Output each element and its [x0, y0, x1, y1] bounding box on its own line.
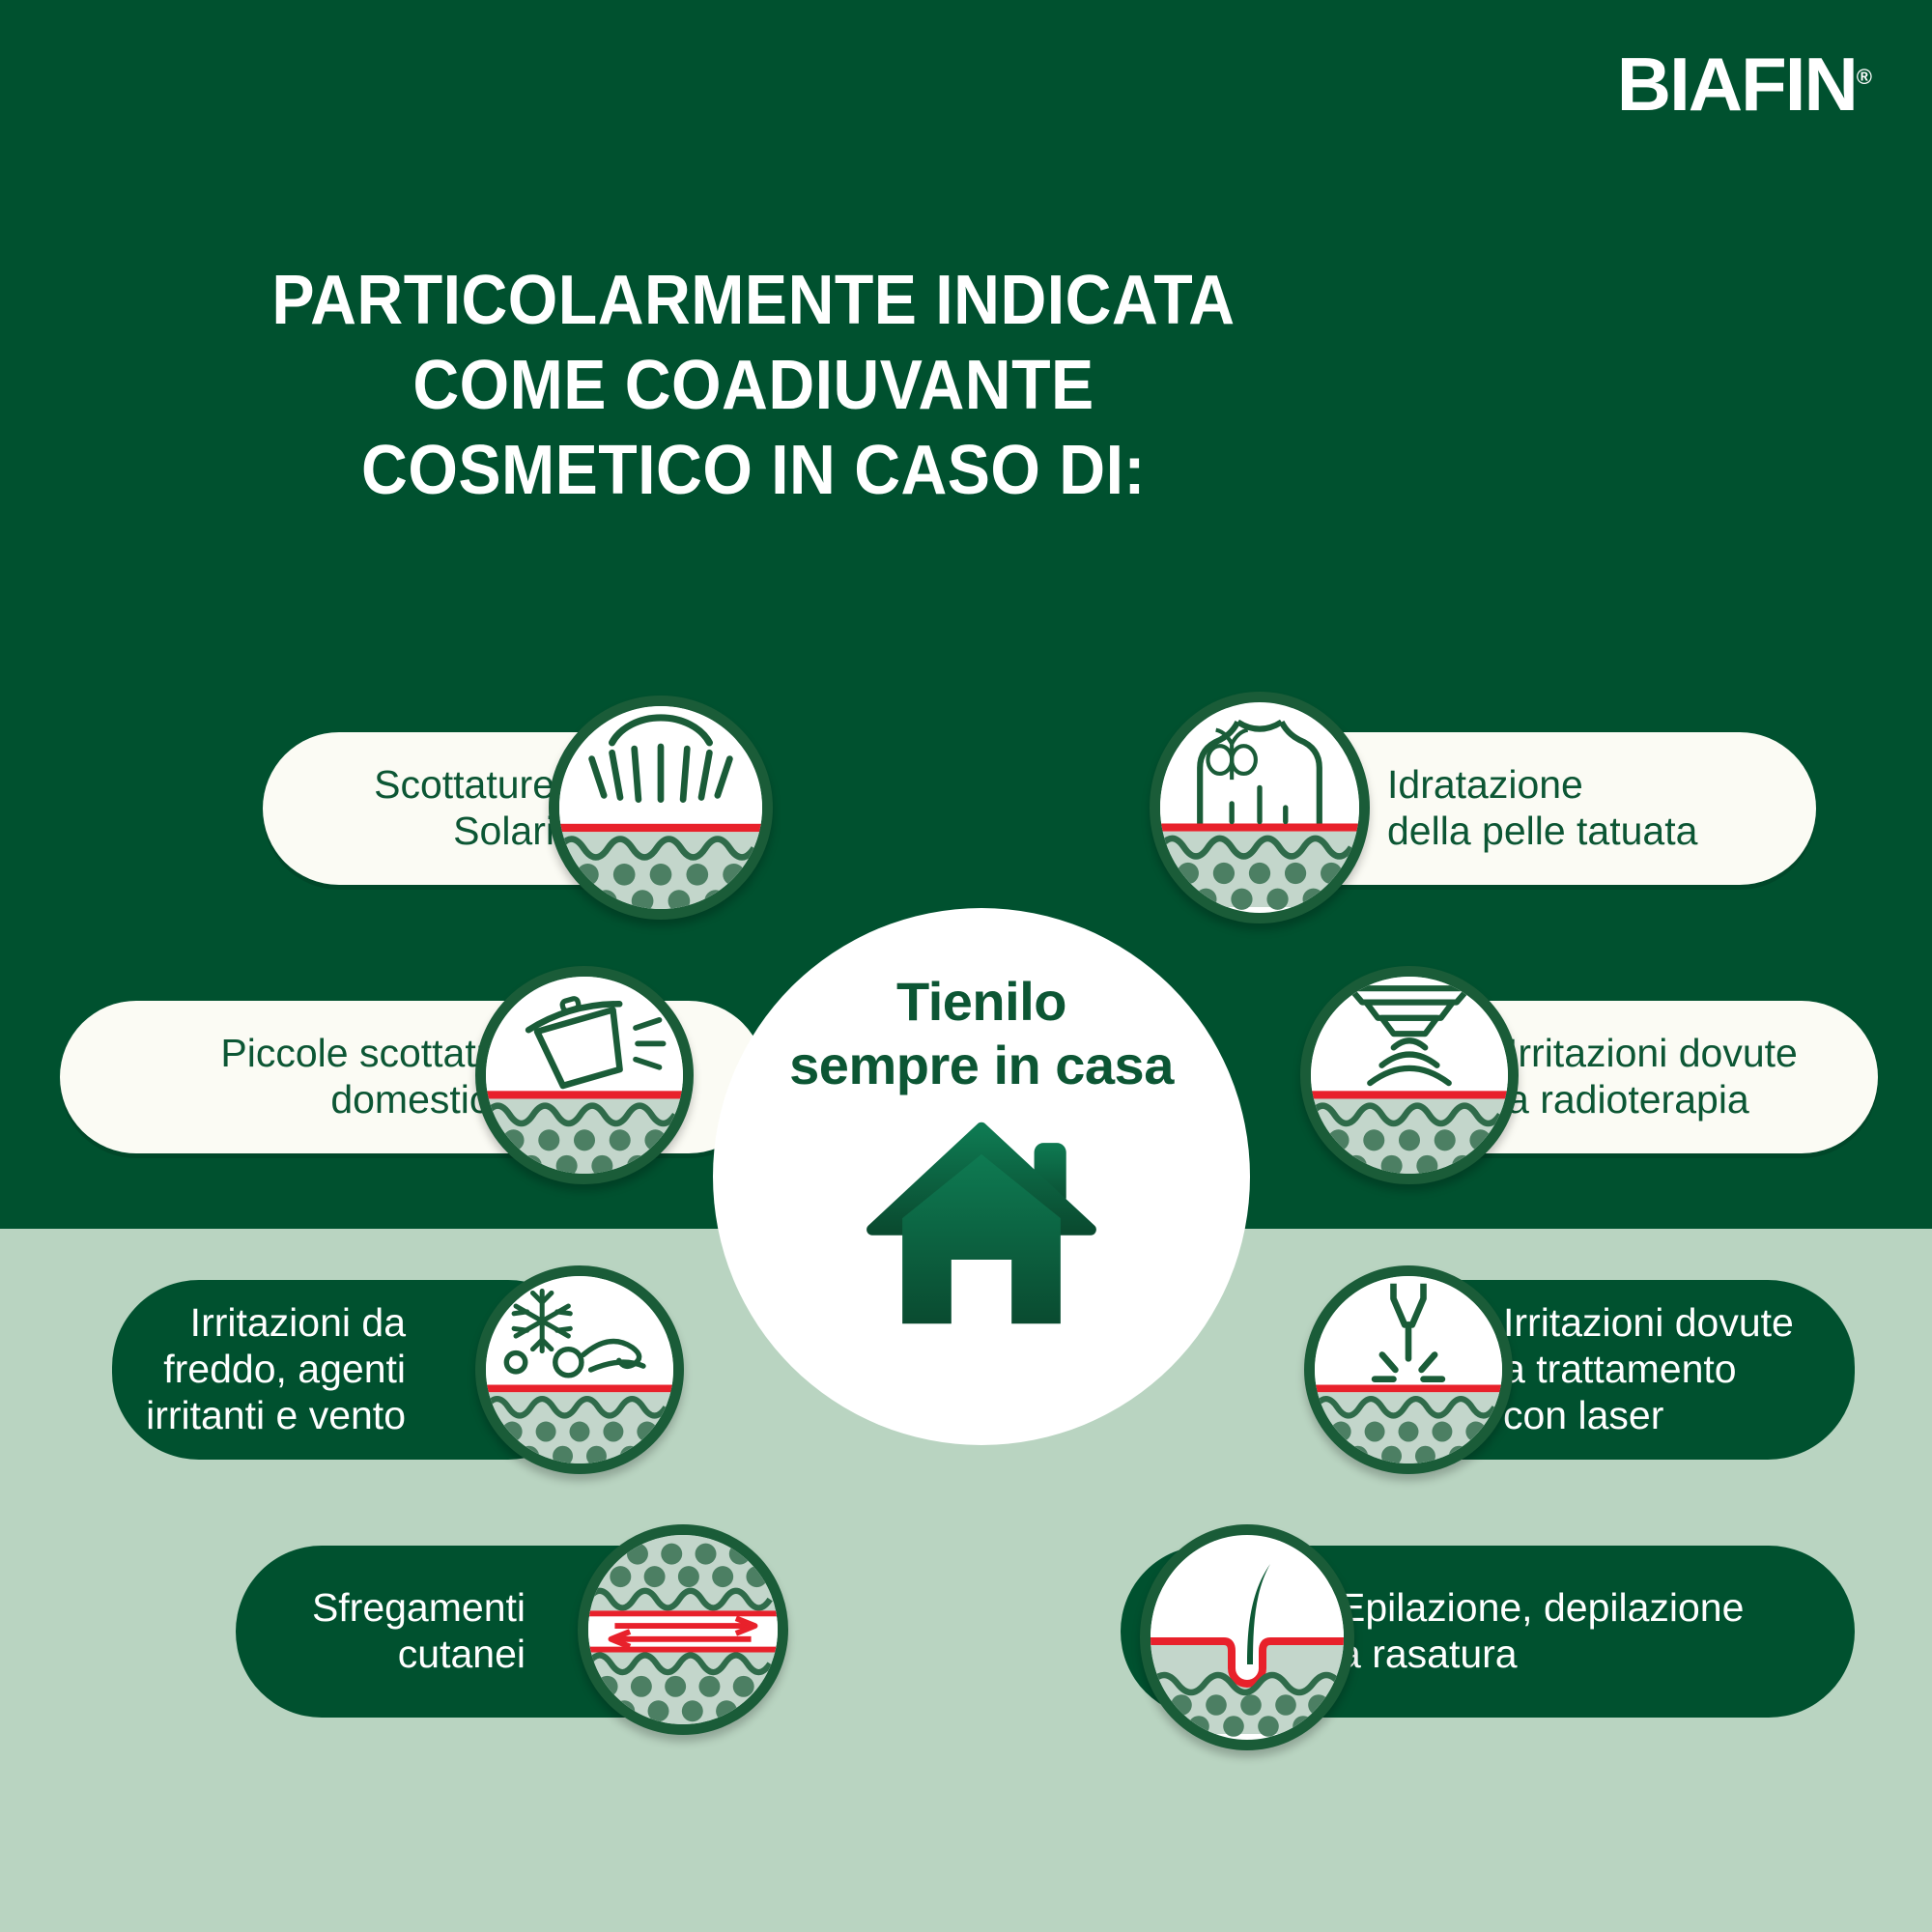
- brand-name: BIAFIN: [1617, 42, 1857, 127]
- page-title: PARTICOLARMENTE INDICATA COME COADIUVANT…: [60, 259, 1446, 513]
- list-item-label: Irritazioni dovute a radioterapia: [1507, 1031, 1798, 1123]
- headline-line-2: COME COADIUVANTE: [60, 344, 1446, 429]
- list-item-label: Scottature Solari: [374, 762, 554, 855]
- center-callout-text: Tienilo sempre in casa: [789, 970, 1174, 1097]
- brand-logo: BIAFIN®: [1617, 46, 1872, 122]
- laser-icon: [1304, 1265, 1513, 1474]
- friction-arrows-icon: [578, 1524, 788, 1735]
- center-callout: Tienilo sempre in casa: [713, 908, 1250, 1445]
- list-item-label: Epilazione, depilazione a rasatura: [1339, 1585, 1744, 1678]
- headline-line-1: PARTICOLARMENTE INDICATA: [60, 259, 1446, 344]
- infographic-poster: BIAFIN® PARTICOLARMENTE INDICATA COME CO…: [0, 0, 1932, 1932]
- headline-line-3: COSMETICO IN CASO DI:: [60, 429, 1446, 514]
- house-icon: [846, 1113, 1117, 1335]
- snowflake-wind-icon: [475, 1265, 684, 1474]
- trademark-symbol: ®: [1857, 65, 1872, 89]
- hot-pot-icon: [475, 966, 694, 1184]
- list-item-label: Irritazioni da freddo, agenti irritanti …: [146, 1300, 406, 1439]
- sun-burn-icon: [549, 696, 773, 920]
- tattooed-torso-icon: [1150, 692, 1370, 923]
- list-item-label: Sfregamenti cutanei: [312, 1585, 526, 1678]
- list-item-label: Idratazione della pelle tatuata: [1387, 762, 1697, 855]
- list-item-label: Irritazioni dovute a trattamento con las…: [1503, 1300, 1794, 1439]
- hair-follicle-icon: [1140, 1524, 1354, 1750]
- radiotherapy-icon: [1300, 966, 1519, 1184]
